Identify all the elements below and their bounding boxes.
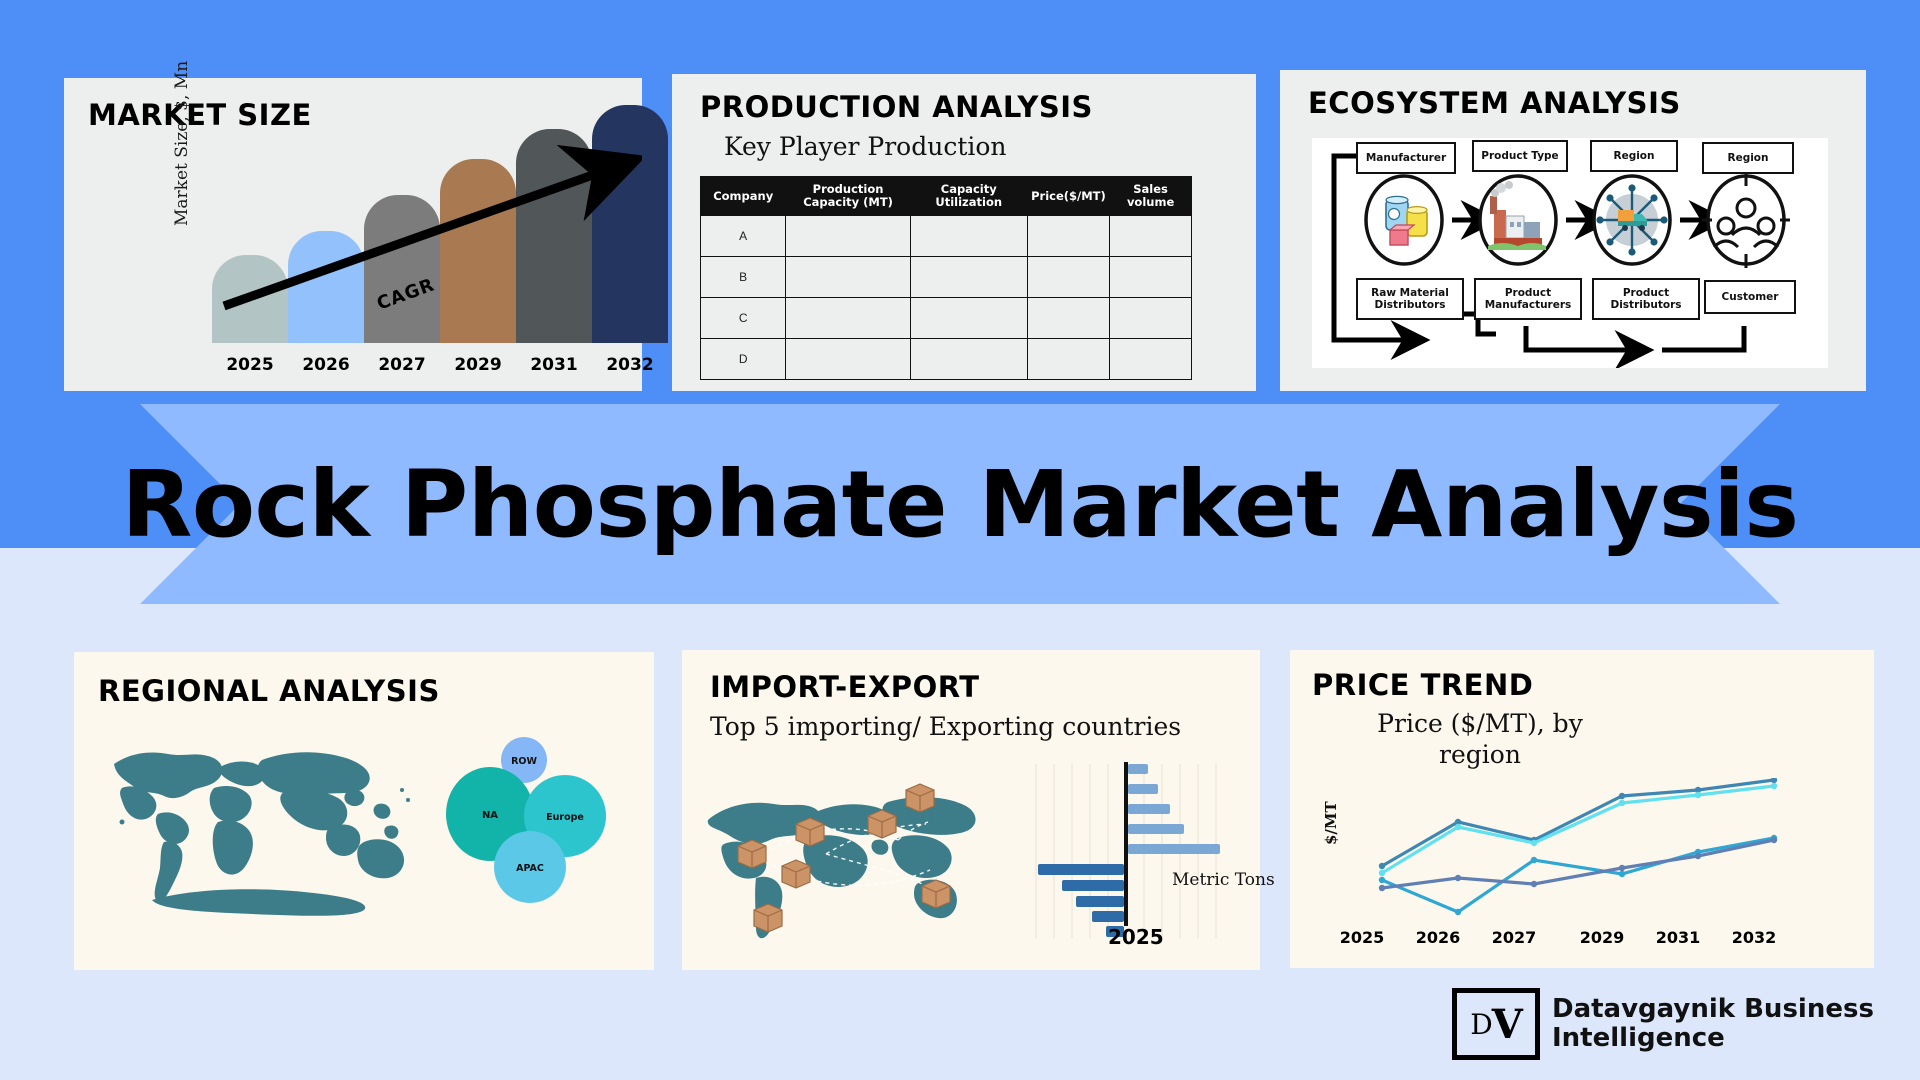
cell-capacity-utilization	[910, 339, 1027, 380]
import-export-subtitle: Top 5 importing/ Exporting countries	[710, 712, 1181, 741]
price-trend-x-tick: 2025	[1332, 928, 1392, 947]
regional-bubble-chart: ROW NA Europe APAC	[434, 736, 614, 916]
cell-price	[1027, 339, 1109, 380]
table-row: A	[701, 216, 1192, 257]
cell-company: A	[701, 216, 786, 257]
ecosystem-bottom-box-product-manufacturers: Product Manufacturers	[1474, 278, 1582, 320]
market-size-x-tick: 2025	[212, 355, 288, 375]
price-trend-y-axis-label: $/MT	[1322, 801, 1340, 845]
tornado-bar-export	[1062, 880, 1124, 891]
tornado-bar-import	[1128, 804, 1170, 814]
market-size-bar	[440, 159, 516, 343]
ecosystem-diagram: Manufacturer Product Type Region Region	[1312, 138, 1828, 368]
ecosystem-bottom-box-customer: Customer	[1704, 280, 1796, 314]
cell-price	[1027, 257, 1109, 298]
market-size-bar	[288, 231, 364, 343]
production-table: Company Production Capacity (MT) Capacit…	[700, 176, 1192, 380]
panel-ecosystem-analysis: ECOSYSTEM ANALYSIS	[1280, 70, 1866, 391]
cell-capacity-utilization	[910, 298, 1027, 339]
tornado-bar-export	[1038, 864, 1124, 875]
table-row: C	[701, 298, 1192, 339]
tornado-axis	[1124, 762, 1128, 926]
world-map-icon	[102, 730, 432, 930]
tornado-bar-import	[1128, 824, 1184, 834]
table-header-row: Company Production Capacity (MT) Capacit…	[701, 177, 1192, 216]
cell-sales-volume	[1110, 298, 1192, 339]
cell-price	[1027, 216, 1109, 257]
market-size-x-tick: 2032	[592, 355, 668, 375]
cell-production-capacity	[786, 339, 910, 380]
price-trend-line-chart	[1368, 778, 1798, 928]
market-size-bar	[364, 195, 440, 343]
cell-production-capacity	[786, 298, 910, 339]
market-size-bar	[212, 255, 288, 343]
column-header-company: Company	[701, 177, 786, 216]
price-trend-subtitle: Price ($/MT), by region	[1350, 708, 1610, 771]
production-title: PRODUCTION ANALYSIS	[700, 90, 1093, 124]
price-point-series-4	[1379, 837, 1777, 891]
logo-mark-dv: D V	[1452, 988, 1540, 1060]
market-size-x-tick: 2027	[364, 355, 440, 375]
price-trend-x-tick: 2029	[1572, 928, 1632, 947]
tornado-bar-import	[1128, 844, 1220, 854]
logo-letter-d: D	[1470, 1008, 1491, 1041]
tornado-bar-export	[1076, 896, 1124, 907]
cell-capacity-utilization	[910, 257, 1027, 298]
logo-company-name: Datavgaynik Business Intelligence	[1552, 995, 1882, 1053]
panel-market-size: MARKET SIZE Market Size, $, Mn 2025 2026…	[64, 78, 642, 391]
price-point-series-2	[1379, 783, 1777, 876]
market-size-bar	[516, 129, 592, 343]
panel-price-trend: PRICE TREND Price ($/MT), by region	[1290, 650, 1874, 968]
price-line-series-4	[1382, 840, 1774, 888]
cell-sales-volume	[1110, 216, 1192, 257]
column-header-price: Price($/MT)	[1027, 177, 1109, 216]
price-trend-title: PRICE TREND	[1312, 668, 1533, 702]
cell-capacity-utilization	[910, 216, 1027, 257]
tornado-bar-export	[1092, 911, 1124, 922]
bubble-label-europe: Europe	[546, 812, 584, 823]
cell-price	[1027, 298, 1109, 339]
regional-title: REGIONAL ANALYSIS	[98, 674, 440, 708]
panel-regional-analysis: REGIONAL ANALYSIS	[74, 652, 654, 970]
market-size-x-tick: 2029	[440, 355, 516, 375]
cell-production-capacity	[786, 257, 910, 298]
cell-sales-volume	[1110, 257, 1192, 298]
tornado-bar-import	[1128, 784, 1158, 794]
column-header-production-capacity: Production Capacity (MT)	[786, 177, 910, 216]
price-line-series-2	[1382, 786, 1774, 873]
tornado-axis-label: Metric Tons	[1172, 870, 1275, 890]
infographic-root: Rock Phosphate Market Analysis MARKET SI…	[0, 0, 1920, 1080]
trade-route-map-icon	[698, 762, 998, 942]
table-row: B	[701, 257, 1192, 298]
bubble-label-apac: APAC	[516, 863, 544, 874]
cell-sales-volume	[1110, 339, 1192, 380]
price-trend-x-tick: 2027	[1484, 928, 1544, 947]
logo-letter-v: V	[1492, 1001, 1522, 1048]
production-subtitle: Key Player Production	[724, 132, 1007, 161]
ecosystem-title: ECOSYSTEM ANALYSIS	[1308, 86, 1681, 120]
cell-production-capacity	[786, 216, 910, 257]
cell-company: B	[701, 257, 786, 298]
ecosystem-bottom-box-product-distributors: Product Distributors	[1592, 278, 1700, 320]
tornado-year-label: 2025	[1108, 925, 1164, 949]
market-size-bar	[592, 105, 668, 343]
cell-company: D	[701, 339, 786, 380]
column-header-sales-volume: Sales volume	[1110, 177, 1192, 216]
bubble-label-na: NA	[482, 810, 498, 821]
column-header-capacity-utilization: Capacity Utilization	[910, 177, 1027, 216]
price-trend-x-tick: 2026	[1408, 928, 1468, 947]
page-title: Rock Phosphate Market Analysis	[40, 404, 1880, 604]
price-trend-x-tick: 2032	[1724, 928, 1784, 947]
price-trend-x-tick: 2031	[1648, 928, 1708, 947]
market-size-x-tick: 2026	[288, 355, 364, 375]
ecosystem-bottom-box-raw-material-distributors: Raw Material Distributors	[1356, 278, 1464, 320]
market-size-x-tick: 2031	[516, 355, 592, 375]
tornado-bar-import	[1128, 764, 1148, 774]
market-size-y-axis-label: Market Size, $, Mn	[172, 61, 192, 226]
panel-production-analysis: PRODUCTION ANALYSIS Key Player Productio…	[672, 74, 1256, 391]
bubble-label-row: ROW	[511, 756, 537, 767]
import-export-title: IMPORT-EXPORT	[710, 670, 980, 704]
table-row: D	[701, 339, 1192, 380]
company-logo: D V Datavgaynik Business Intelligence	[1452, 988, 1882, 1060]
market-size-title: MARKET SIZE	[88, 98, 312, 132]
cell-company: C	[701, 298, 786, 339]
